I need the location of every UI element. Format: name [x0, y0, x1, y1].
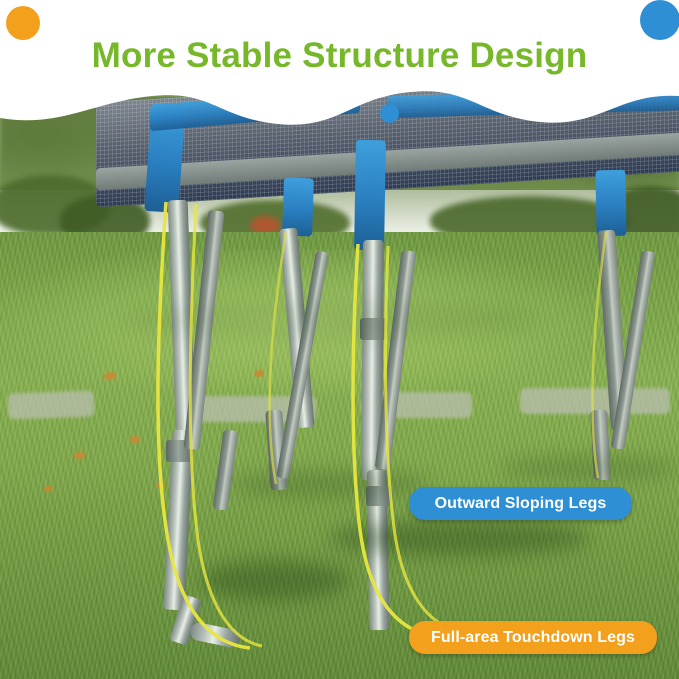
label-outward-sloping-legs: Outward Sloping Legs: [409, 487, 632, 520]
leg-shadow-left: [200, 560, 350, 600]
dot-orange-top-left: [6, 6, 40, 40]
pad-sleeve-mid: [354, 140, 386, 251]
label-full-area-touchdown-legs: Full-area Touchdown Legs: [409, 621, 657, 654]
dot-blue-top-right: [640, 0, 679, 40]
frame-shadow-upper: [120, 300, 540, 340]
product-photo: [0, 0, 679, 679]
leaf-5: [156, 482, 165, 488]
product-feature-poster: More Stable Structure Design Outward Slo…: [0, 0, 679, 679]
leaf-4: [44, 486, 53, 492]
leg-shadow-center: [330, 520, 590, 556]
page-title: More Stable Structure Design: [0, 36, 679, 76]
leg-shadow-right: [500, 455, 679, 481]
pad-sleeve-right: [595, 170, 626, 237]
leaf-3: [130, 436, 140, 443]
label-full-area-touchdown-legs-text: Full-area Touchdown Legs: [431, 629, 635, 647]
stone-1: [8, 391, 95, 420]
dot-blue-center: [380, 104, 399, 123]
leaf-6: [254, 370, 264, 377]
label-outward-sloping-legs-text: Outward Sloping Legs: [435, 495, 607, 513]
leaf-1: [104, 372, 116, 380]
leaf-2: [74, 452, 85, 459]
leg-shadow-mid: [230, 470, 430, 498]
